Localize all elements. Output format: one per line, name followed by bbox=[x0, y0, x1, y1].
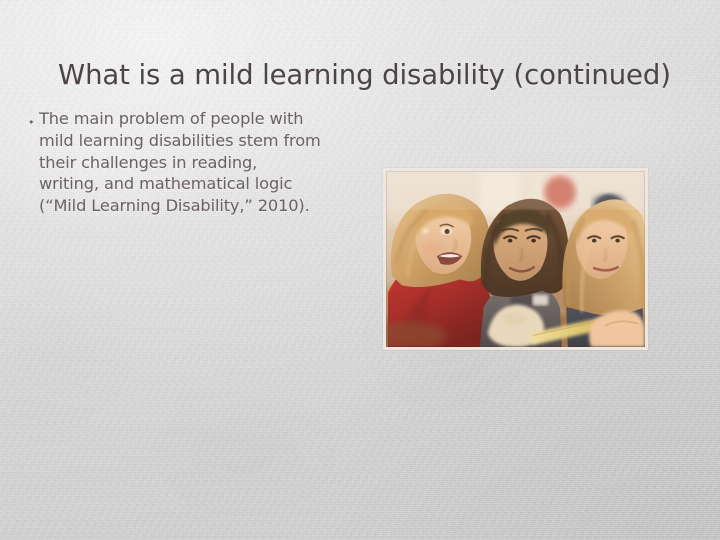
content-image-frame bbox=[383, 168, 648, 350]
slide-canvas: What is a mild learning disability (cont… bbox=[0, 0, 720, 540]
bullet-list: • The main problem of people with mild l… bbox=[28, 108, 374, 217]
three-girls-classroom-photo bbox=[386, 171, 645, 347]
body-line: mild learning disabilities stem from bbox=[39, 130, 374, 152]
body-line: writing, and mathematical logic bbox=[39, 173, 374, 195]
photo-artwork bbox=[386, 171, 645, 347]
body-line: The main problem of people with bbox=[39, 108, 374, 130]
bullet-text: The main problem of people with mild lea… bbox=[39, 108, 374, 217]
body-line: (“Mild Learning Disability,” 2010). bbox=[39, 195, 374, 217]
page-title: What is a mild learning disability (cont… bbox=[58, 58, 678, 92]
list-item: • The main problem of people with mild l… bbox=[28, 108, 374, 217]
bullet-dot-icon: • bbox=[28, 117, 39, 128]
body-line: their challenges in reading, bbox=[39, 152, 374, 174]
